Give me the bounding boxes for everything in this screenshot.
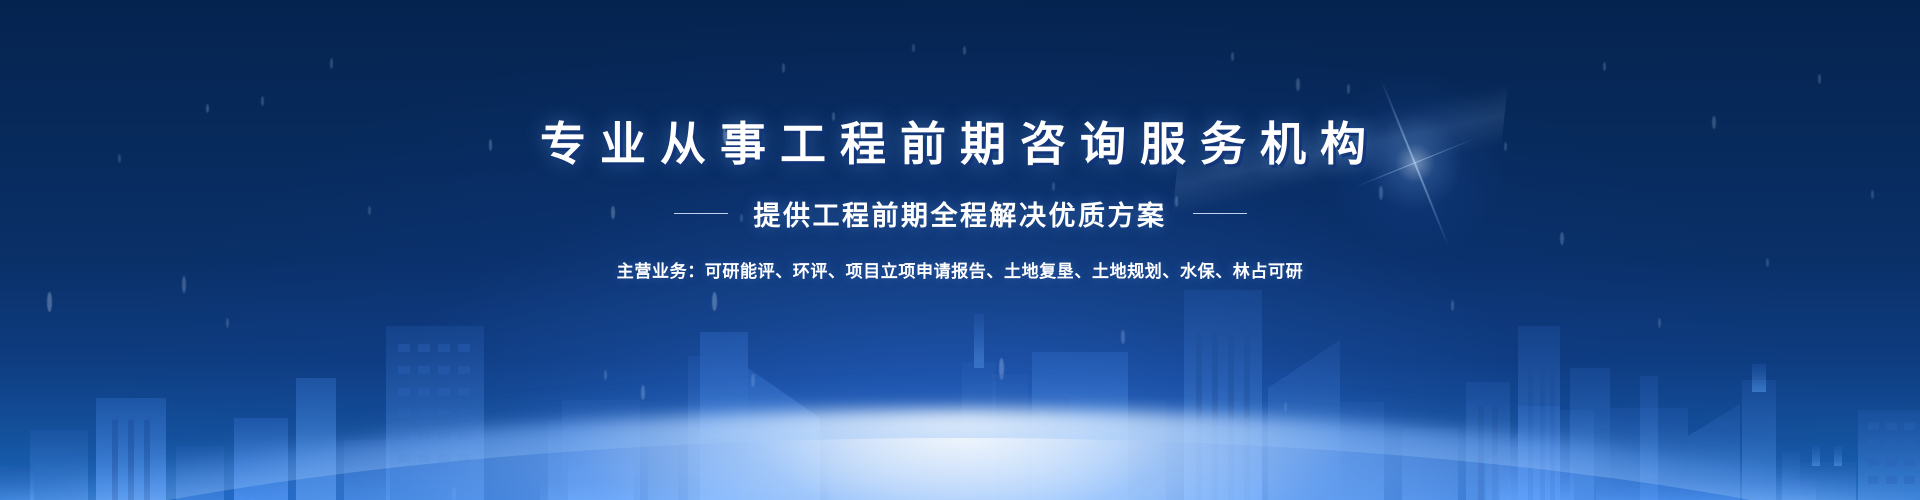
- banner-content: 专业从事工程前期咨询服务机构 提供工程前期全程解决优质方案 主营业务：可研能评、…: [0, 0, 1920, 282]
- right-rule: [1193, 213, 1247, 215]
- city-skyline: [0, 270, 1920, 500]
- banner-subtitle-row: 提供工程前期全程解决优质方案: [0, 194, 1920, 233]
- horizon-glow: [0, 410, 1920, 500]
- left-rule: [674, 213, 728, 215]
- hero-banner: 专业从事工程前期咨询服务机构 提供工程前期全程解决优质方案 主营业务：可研能评、…: [0, 0, 1920, 500]
- banner-services-line: 主营业务：可研能评、环评、项目立项申请报告、土地复垦、土地规划、水保、林占可研: [0, 257, 1920, 282]
- horizon-arc: [0, 438, 1920, 500]
- banner-headline: 专业从事工程前期咨询服务机构: [0, 0, 1920, 174]
- banner-subtitle: 提供工程前期全程解决优质方案: [754, 194, 1167, 233]
